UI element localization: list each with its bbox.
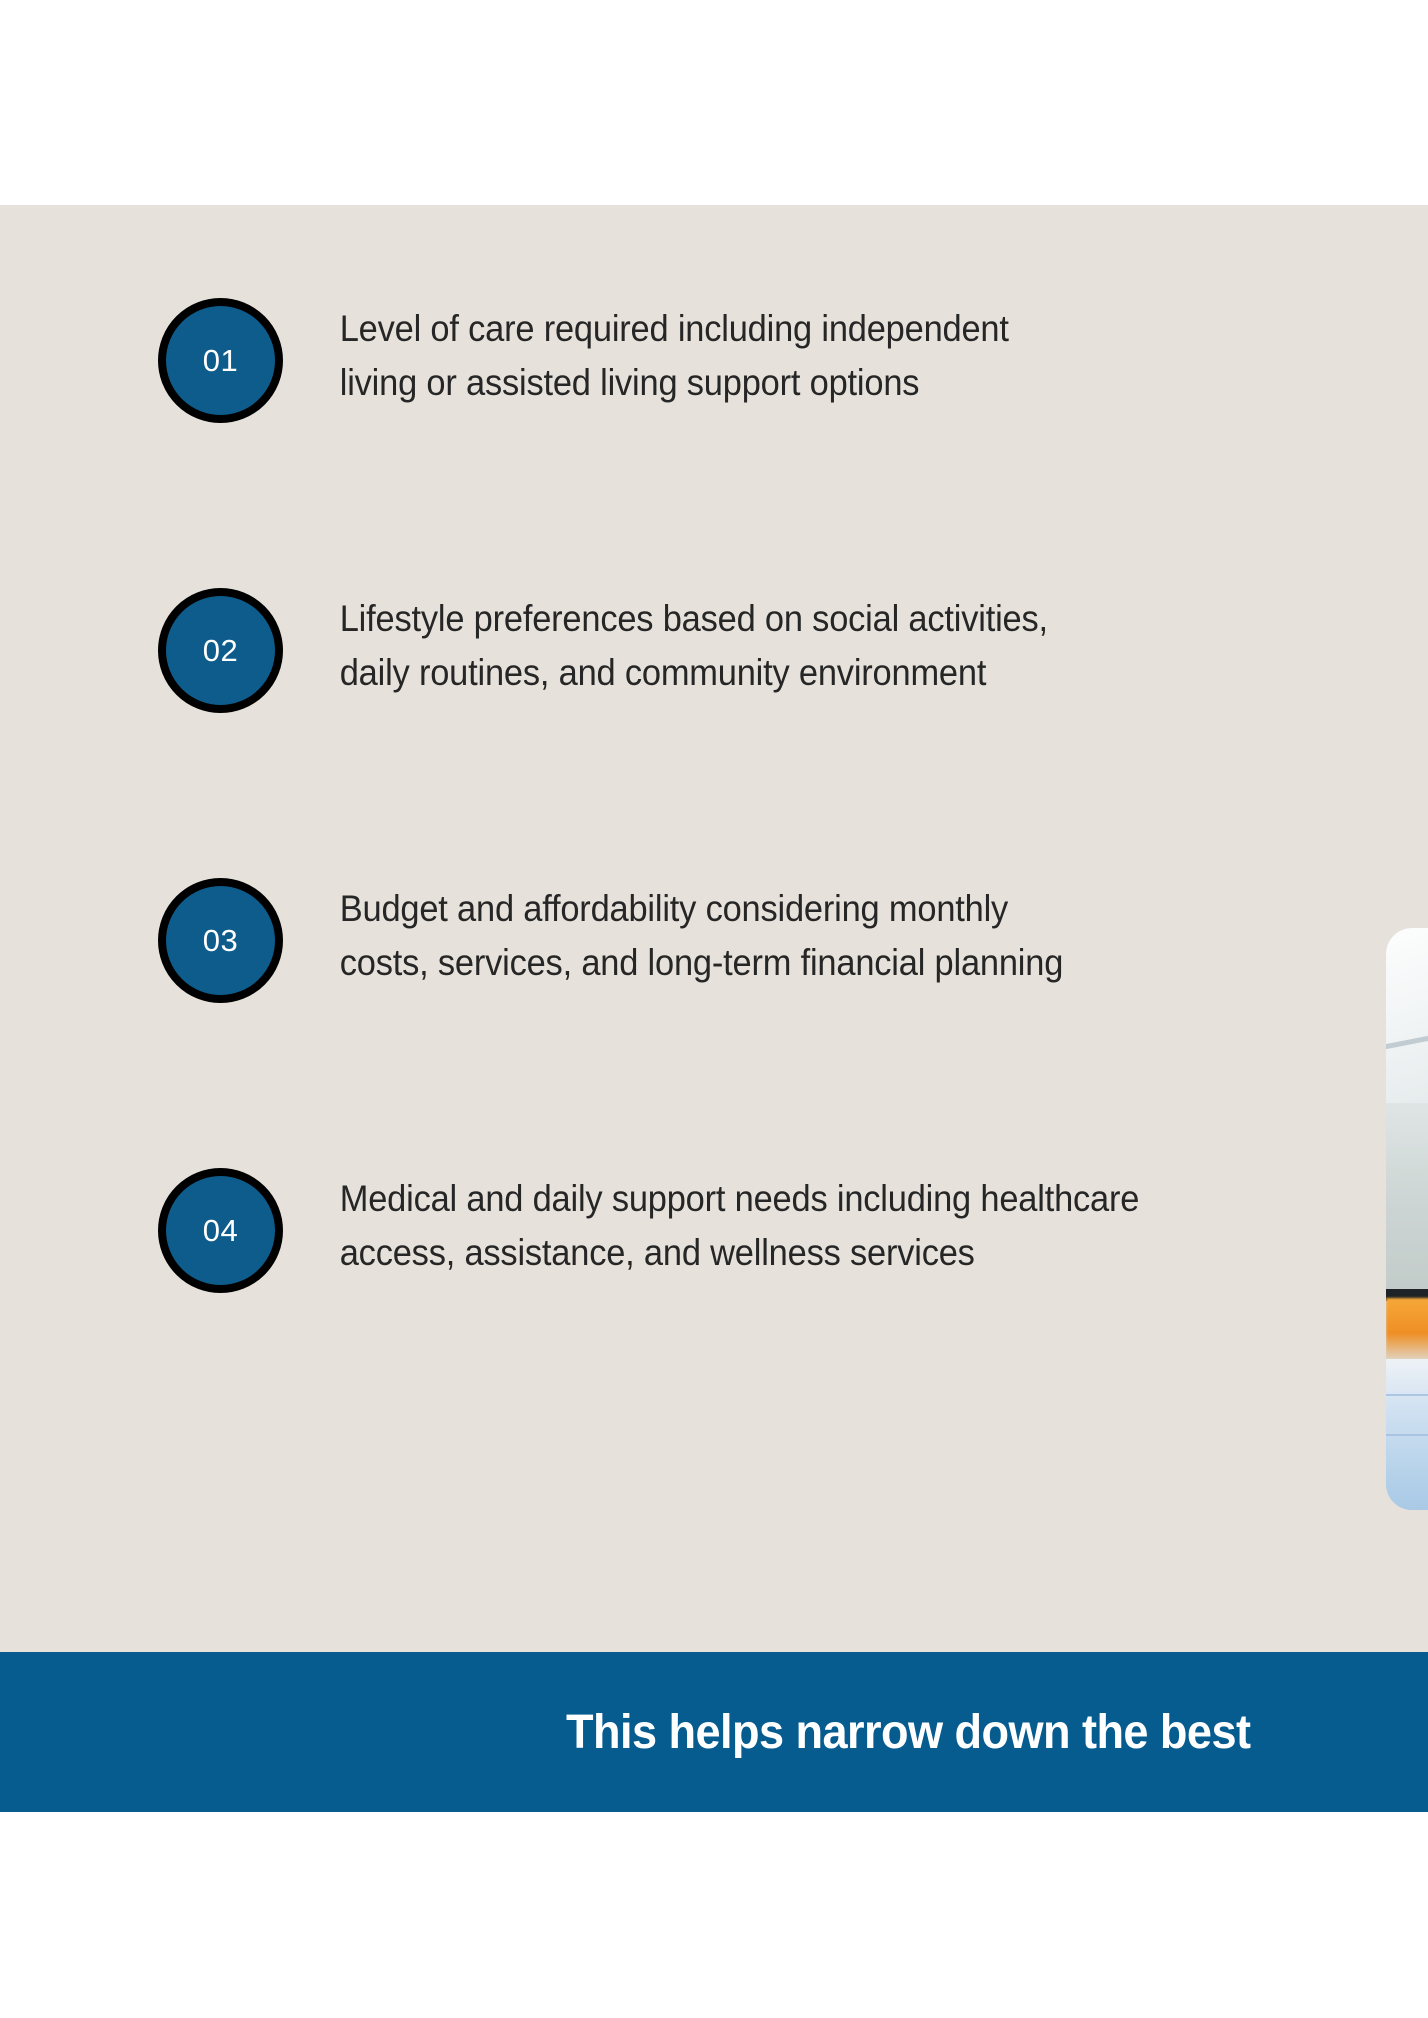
list-item-text: Level of care required including indepen… <box>283 298 1264 410</box>
photo-warm-glow <box>1386 1298 1428 1362</box>
badge-number-label: 02 <box>203 635 238 666</box>
list-item: 03 Budget and affordability considering … <box>158 878 1338 1003</box>
list-item-text: Medical and daily support needs includin… <box>283 1168 1264 1280</box>
infographic-canvas: 01 Level of care required including inde… <box>0 0 1428 2018</box>
number-badge-03: 03 <box>158 878 283 1003</box>
photo-floor-line <box>1386 1434 1428 1436</box>
list-item: 02 Lifestyle preferences based on social… <box>158 588 1338 713</box>
number-badge-04: 04 <box>158 1168 283 1293</box>
list-item: 04 Medical and daily support needs inclu… <box>158 1168 1338 1293</box>
numbered-list: 01 Level of care required including inde… <box>158 298 1338 1293</box>
number-badge-02: 02 <box>158 588 283 713</box>
list-item: 01 Level of care required including inde… <box>158 298 1338 423</box>
badge-number-label: 01 <box>203 345 238 376</box>
photo-wall-region <box>1386 1103 1428 1289</box>
photo-ceiling-region <box>1386 928 1428 1114</box>
list-item-text: Budget and affordability considering mon… <box>283 878 1264 990</box>
bottom-banner: This helps narrow down the best <box>0 1652 1428 1812</box>
banner-headline: This helps narrow down the best <box>566 1705 1250 1760</box>
badge-number-label: 03 <box>203 925 238 956</box>
interior-photo-card <box>1386 928 1428 1510</box>
list-item-text: Lifestyle preferences based on social ac… <box>283 588 1264 700</box>
badge-number-label: 04 <box>203 1215 238 1246</box>
photo-floor-line <box>1386 1394 1428 1396</box>
number-badge-01: 01 <box>158 298 283 423</box>
